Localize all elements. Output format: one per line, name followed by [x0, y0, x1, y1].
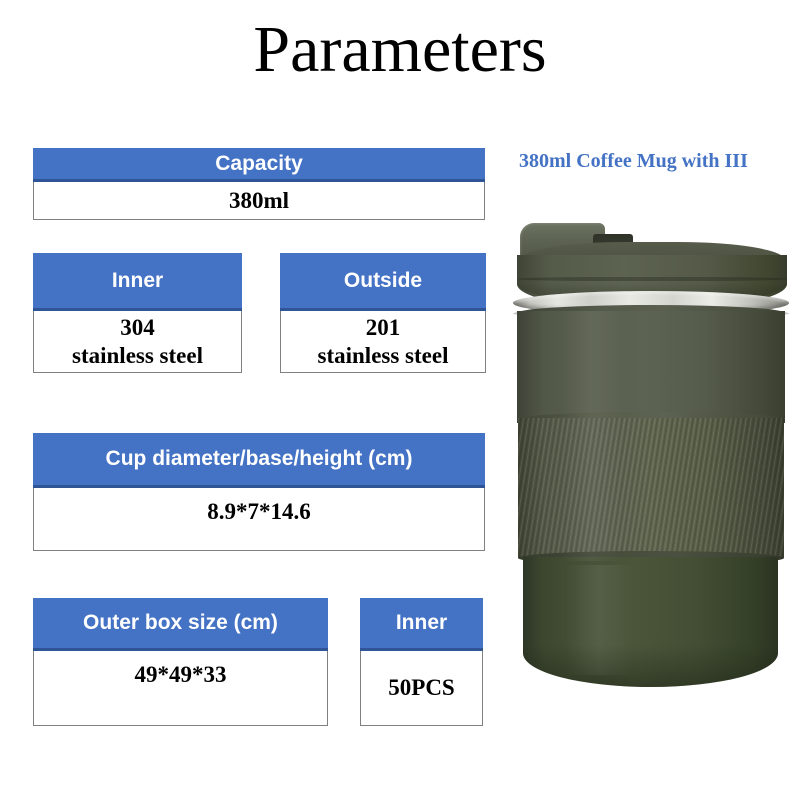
- spec-value-outside: 201 stainless steel: [280, 311, 486, 373]
- spec-row-capacity: Capacity 380ml: [33, 148, 485, 220]
- spec-value-outside-line1: 201: [318, 314, 449, 341]
- page-title: Parameters: [0, 14, 800, 87]
- product-image-coffee-mug: [505, 215, 795, 710]
- spec-value-outside-line2: stainless steel: [318, 342, 449, 369]
- spec-value-outer-box-size: 49*49*33: [33, 651, 328, 726]
- spec-header-inner: Inner: [33, 253, 242, 311]
- spec-header-cup-dimensions: Cup diameter/base/height (cm): [33, 433, 485, 488]
- mug-body-upper: [517, 311, 785, 423]
- spec-value-capacity: 380ml: [33, 182, 485, 220]
- mug-body-gloss: [560, 311, 622, 561]
- spec-header-outer-box-size: Outer box size (cm): [33, 598, 328, 651]
- spec-row-inner-quantity: Inner 50PCS: [360, 598, 483, 726]
- grip-ribbing-texture: [518, 418, 784, 558]
- spec-value-cup-dimensions: 8.9*7*14.6: [33, 488, 485, 551]
- spec-header-inner-quantity: Inner: [360, 598, 483, 651]
- mug-base-shading: [523, 645, 778, 687]
- spec-row-inner-material: Inner 304 stainless steel: [33, 253, 242, 373]
- spec-row-cup-dimensions: Cup diameter/base/height (cm) 8.9*7*14.6: [33, 433, 485, 551]
- spec-value-inner-line1: 304: [72, 314, 203, 341]
- spec-row-outside-material: Outside 201 stainless steel: [280, 253, 486, 373]
- silicone-grip-band: [518, 418, 784, 558]
- lid-rim-line: [517, 277, 787, 281]
- spec-header-outside: Outside: [280, 253, 486, 311]
- spec-value-inner-quantity: 50PCS: [360, 651, 483, 726]
- spec-value-inner: 304 stainless steel: [33, 311, 242, 373]
- spec-value-inner-line2: stainless steel: [72, 342, 203, 369]
- spec-row-outer-box-size: Outer box size (cm) 49*49*33: [33, 598, 328, 726]
- product-caption: 380ml Coffee Mug with III: [519, 150, 789, 173]
- spec-header-capacity: Capacity: [33, 148, 485, 182]
